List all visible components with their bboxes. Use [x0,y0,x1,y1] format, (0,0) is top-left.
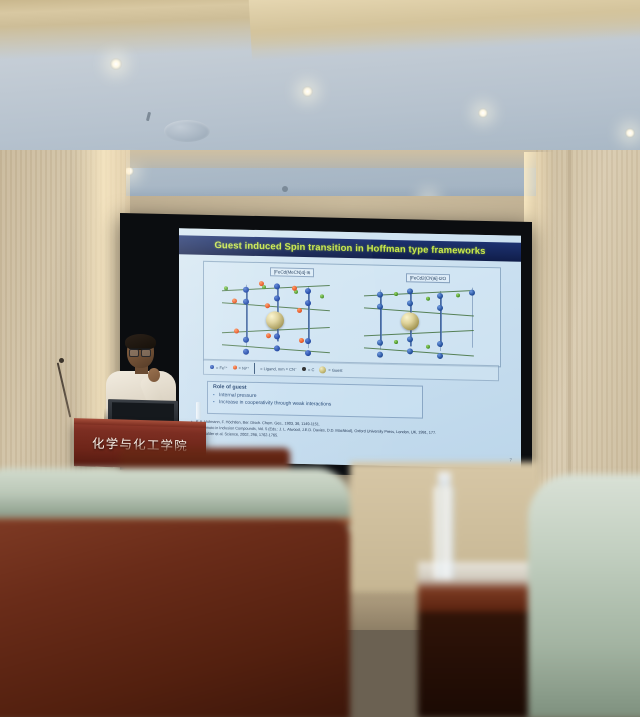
seat-left-wood-back [0,520,350,717]
table-shadow [418,610,538,717]
legend-divider [254,362,255,373]
seat-left [0,468,350,717]
microphone-icon [59,358,64,363]
role-of-guest-box: Role of guest Internal pressure Increase… [207,381,423,419]
speaker-hand [148,368,160,382]
structure-diagram: [FeCd(MeCN)4]·I6 [FeCd2(CN)6]·I2O [203,261,501,368]
downlight-icon [625,128,635,138]
seat-right [528,474,640,717]
structure-label-right: [FeCd2(CN)6]·I2O [406,273,450,283]
eyeglasses-icon [129,348,151,355]
ceiling-speaker-icon [164,120,210,142]
legend-item: = Guest [319,366,342,374]
downlight-icon [110,58,122,70]
lattice-right [204,262,500,268]
legend-label: = Fe²⁺ [216,365,228,370]
guest-sphere-left [266,311,284,329]
bottle-body [434,486,454,580]
guest-sphere-icon [319,366,326,373]
downlight-icon [302,86,313,97]
slide-title-bar: Guest induced Spin transition in Hoffman… [179,235,521,261]
foreground-seating [0,462,640,717]
slide: Guest induced Spin transition in Hoffman… [179,228,521,468]
guest-sphere-right [401,312,419,330]
cd-dot-icon [302,367,306,371]
ceiling-sensor-icon [282,186,288,192]
downlight-icon [478,108,488,118]
legend-item: = C [302,366,314,371]
water-bottle [432,472,456,580]
structure-label-left: [FeCd(MeCN)4]·I6 [270,267,314,277]
podium-water-bottle [196,402,201,419]
legend-item: = Ligand, mm = CN⁻ [260,366,297,372]
slide-title-text: Guest induced Spin transition in Hoffman… [214,240,485,257]
slide-surface: Guest induced Spin transition in Hoffman… [179,228,521,468]
legend-label: = Ligand, mm = CN⁻ [260,366,297,372]
bottle-cap [438,472,451,486]
legend-label: = Ni²⁺ [239,365,250,370]
legend-label: = Guest [328,367,342,372]
fe-dot-icon [210,365,214,369]
ni-dot-icon [233,365,237,369]
lecture-hall-photo: Guest induced Spin transition in Hoffman… [0,0,640,717]
lattice-left [204,262,500,268]
legend-item: = Ni²⁺ [233,365,250,370]
seat-right-cushion [528,474,640,717]
legend-label: = C [308,367,314,372]
legend-item: = Fe²⁺ [210,364,228,369]
reference-list: K.A. Hofmann, F. Höchtlen, Ber. Dtsch. C… [189,419,499,443]
